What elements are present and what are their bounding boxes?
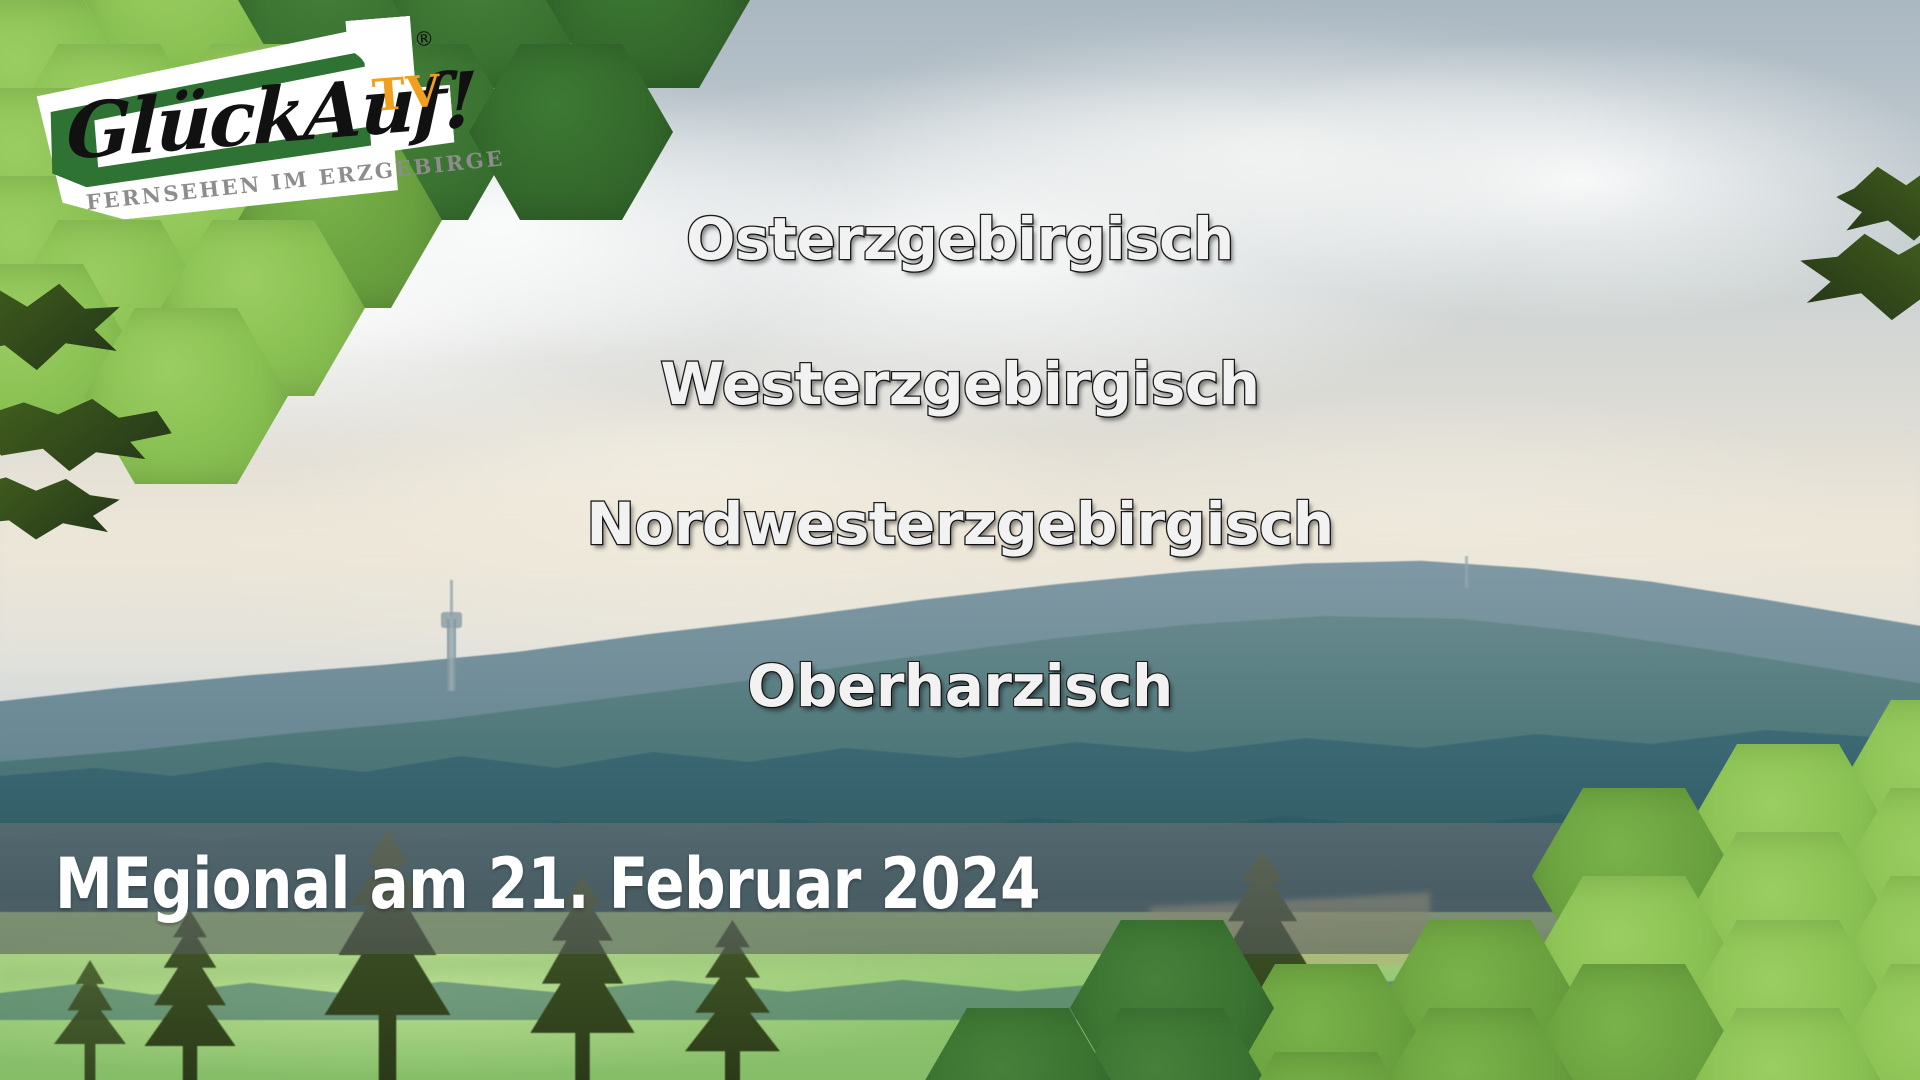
dialect-text: Westerzgebirgisch <box>660 350 1259 418</box>
dialect-label-oberharzisch: Oberharzisch <box>0 652 1920 720</box>
dialect-text: Nordwesterzgebirgisch <box>586 490 1333 558</box>
dialect-text: Osterzgebirgisch <box>686 205 1234 273</box>
logo-tv-mark: TV <box>371 66 444 122</box>
dialect-label-osterzgebirgisch: Osterzgebirgisch <box>0 205 1920 273</box>
dialect-label-westerzgebirgisch: Westerzgebirgisch <box>0 350 1920 418</box>
broadcast-preview-frame: Osterzgebirgisch Westerzgebirgisch Nordw… <box>0 0 1920 1080</box>
dialect-label-nordwesterzgebirgisch: Nordwesterzgebirgisch <box>0 490 1920 558</box>
dialect-text: Oberharzisch <box>747 652 1173 720</box>
program-title: MEgional am 21. Februar 2024 <box>55 843 1343 925</box>
registered-trademark-icon: ® <box>413 26 435 52</box>
glueckauf-tv-logo[interactable]: GlückAuf! TV ® FERNSEHEN IM ERZGEBIRGE <box>15 13 458 227</box>
